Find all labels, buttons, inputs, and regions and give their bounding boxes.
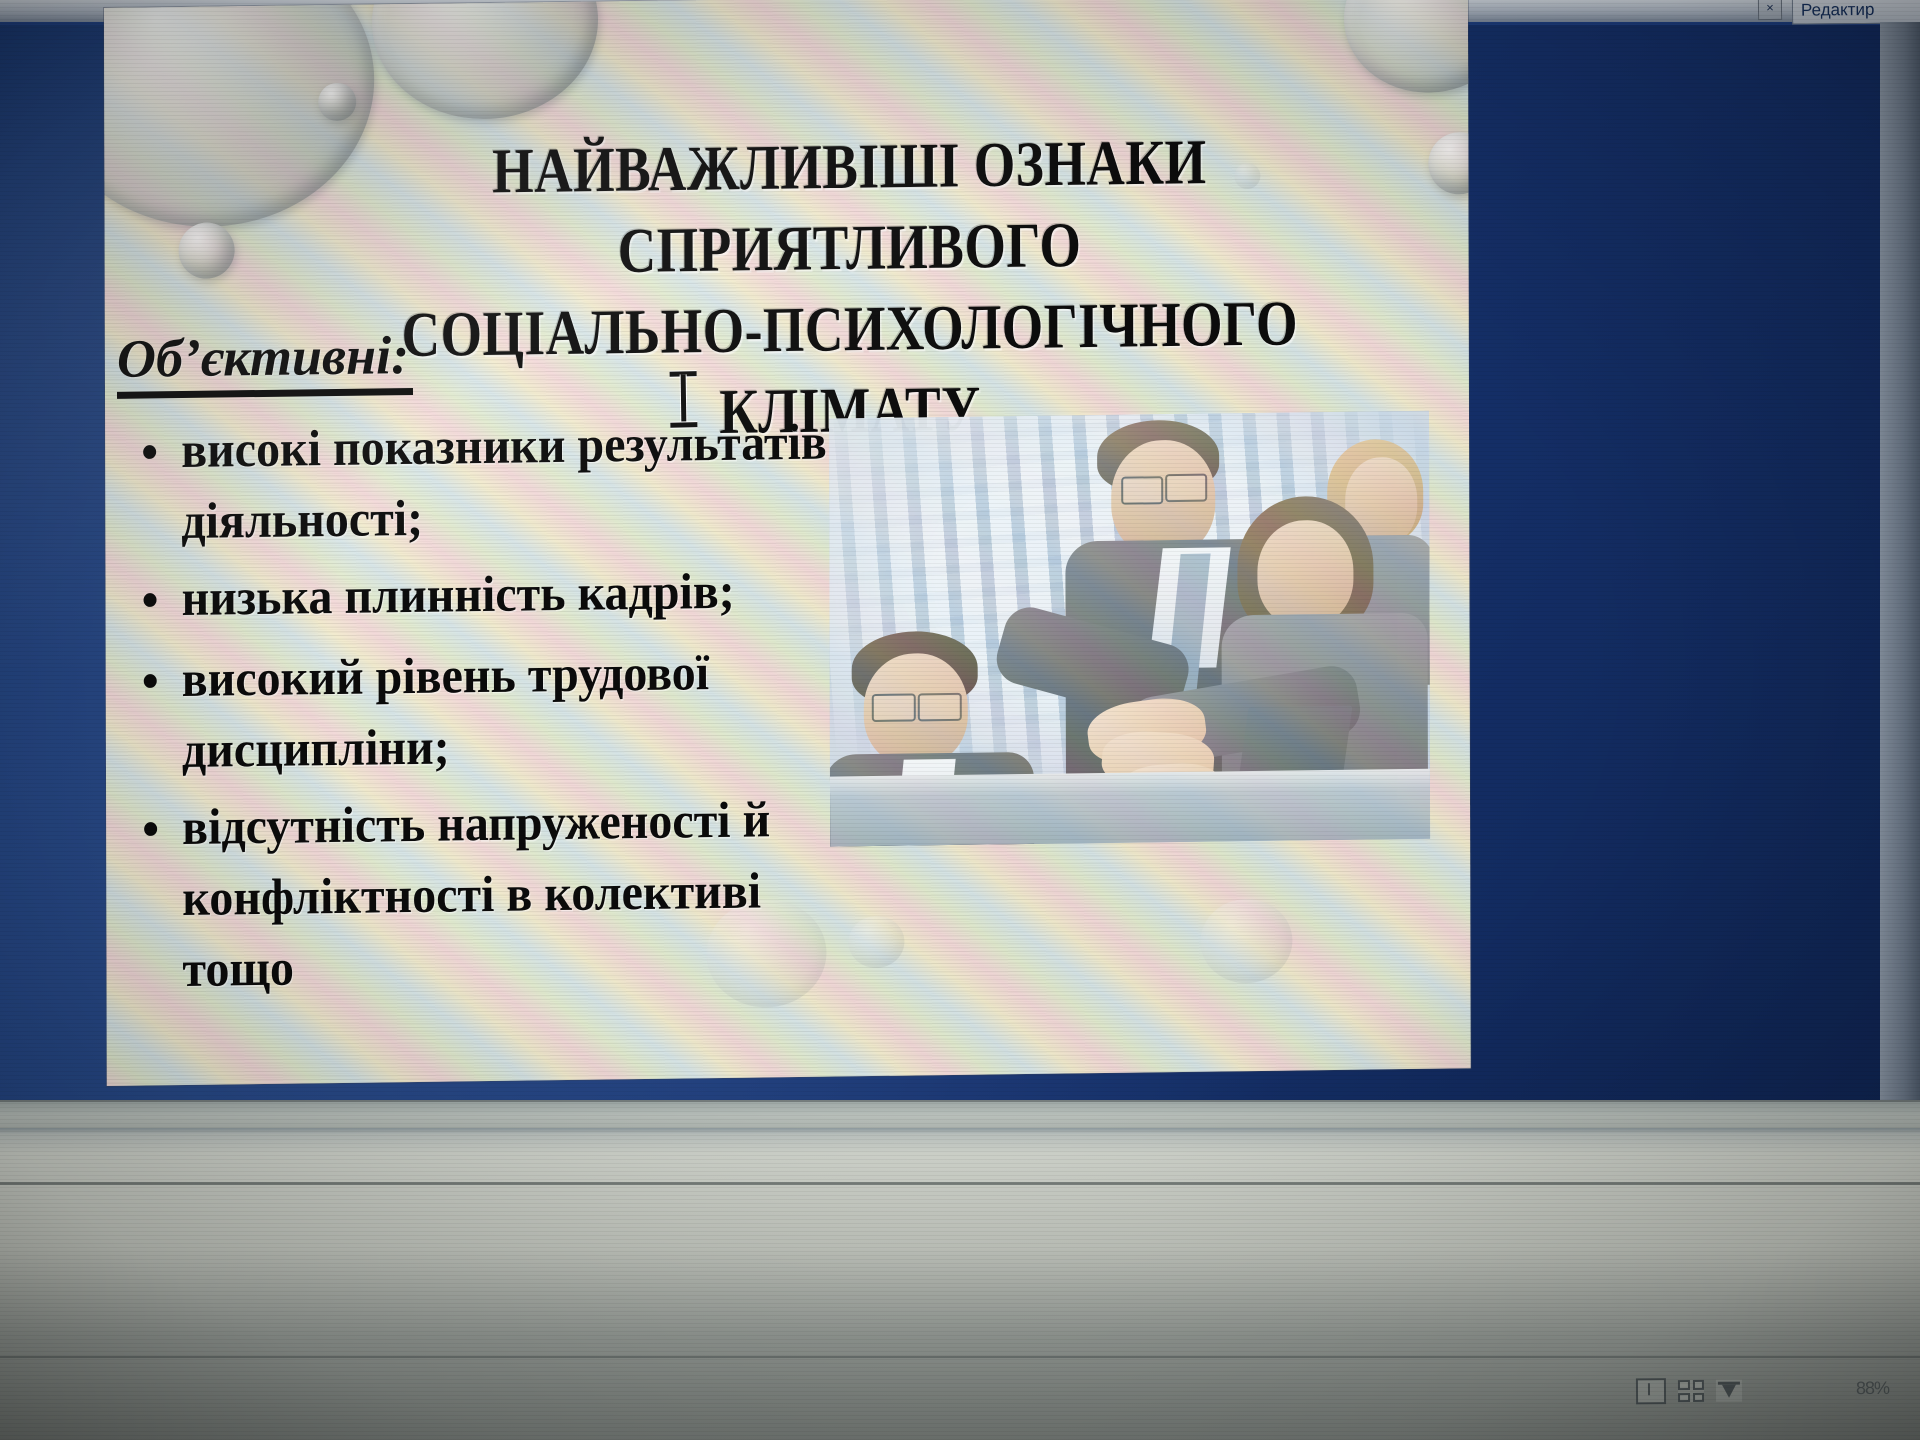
task-pane-tab[interactable]: Редактир: [1792, 0, 1920, 25]
zoom-level-label[interactable]: 88%: [1856, 1378, 1889, 1399]
slide-sorter-view-button[interactable]: [1678, 1380, 1704, 1402]
list-item: низька плинність кадрів;: [119, 554, 879, 635]
monitor-bezel: [0, 1128, 1920, 1440]
slide-canvas[interactable]: НАЙВАЖЛИВІШІ ОЗНАКИ СПРИЯТЛИВОГО СОЦІАЛЬ…: [104, 0, 1471, 1086]
water-drop-icon: [1344, 0, 1471, 94]
slide-image-business-team[interactable]: [829, 411, 1430, 847]
app-right-frame: [1880, 22, 1920, 1132]
photo-glare-wash: [829, 411, 1430, 847]
slide-title-line-1: НАЙВАЖЛИВІШІ ОЗНАКИ СПРИЯТЛИВОГО: [272, 119, 1427, 297]
close-icon[interactable]: ×: [1758, 0, 1782, 20]
list-item: високий рівень трудової дисципліни;: [120, 635, 880, 787]
bullet-list: високі показники результатів діяльності;…: [119, 406, 880, 1008]
slide-subheading: Об’єктивні:: [117, 324, 413, 399]
water-drop-icon: [318, 83, 356, 121]
slide-show-view-button[interactable]: [1716, 1380, 1742, 1402]
photographed-monitor: × Редактир НАЙВАЖЛИВІШІ ОЗНАКИ СПРИЯТЛИВ…: [0, 0, 1920, 1440]
list-item: високі показники результатів діяльності;: [119, 406, 879, 558]
water-drop-icon: [1428, 132, 1470, 195]
list-item: відсутність напруженості й конфліктності…: [120, 783, 880, 1006]
water-drop-icon: [1200, 899, 1292, 984]
normal-view-button[interactable]: [1636, 1378, 1666, 1404]
view-mode-buttons[interactable]: [1636, 1378, 1742, 1405]
text-cursor-ibeam-icon: [669, 368, 700, 431]
water-drop-icon: [179, 222, 235, 279]
water-drop-icon: [372, 0, 598, 120]
